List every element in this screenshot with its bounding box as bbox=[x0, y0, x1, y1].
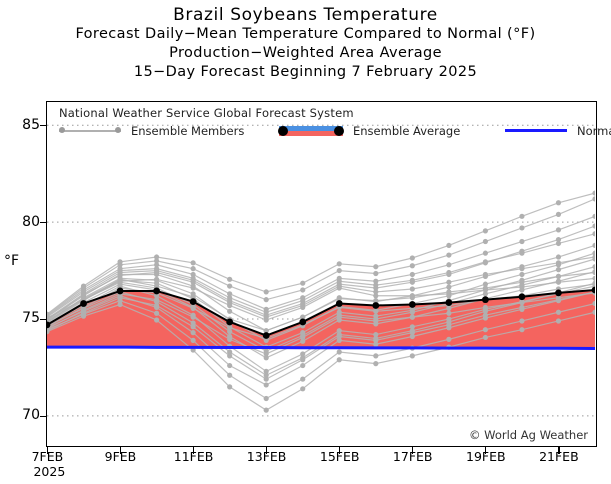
ensemble-member-point bbox=[264, 313, 269, 318]
ensemble-member-point bbox=[337, 313, 342, 318]
ensemble-member-point bbox=[446, 243, 451, 248]
ensemble-average-point bbox=[409, 301, 416, 308]
ensemble-member-point bbox=[191, 330, 196, 335]
ensemble-member-point bbox=[446, 272, 451, 277]
ensemble-average-point bbox=[555, 289, 562, 296]
legend-label-ensemble-members: Ensemble Members bbox=[131, 124, 244, 138]
ensemble-member-point bbox=[373, 321, 378, 326]
ensemble-member-point bbox=[373, 353, 378, 358]
ensemble-member-point bbox=[191, 313, 196, 318]
ensemble-member-point bbox=[264, 307, 269, 312]
ensemble-member-point bbox=[227, 349, 232, 354]
ensemble-member-point bbox=[373, 316, 378, 321]
ensemble-member-point bbox=[519, 225, 524, 230]
ensemble-member-point bbox=[117, 272, 122, 277]
ensemble-member-point bbox=[337, 349, 342, 354]
x-tick-mark bbox=[339, 447, 340, 454]
y-tick-label: 85 bbox=[6, 117, 40, 133]
ensemble-member-point bbox=[337, 261, 342, 266]
ensemble-member-point bbox=[227, 373, 232, 378]
legend-label-ensemble-average: Ensemble Average bbox=[353, 124, 460, 138]
ensemble-member-point bbox=[227, 384, 232, 389]
ensemble-member-point bbox=[373, 264, 378, 269]
ensemble-member-point bbox=[410, 334, 415, 339]
ensemble-member-point bbox=[337, 332, 342, 337]
ensemble-member-point bbox=[556, 212, 561, 217]
ensemble-member-point bbox=[373, 285, 378, 290]
ensemble-average-point bbox=[336, 300, 343, 307]
ensemble-member-point bbox=[519, 214, 524, 219]
normal-line bbox=[47, 347, 595, 348]
x-tick-mark bbox=[47, 447, 48, 454]
ensemble-member-point bbox=[556, 254, 561, 259]
ensemble-member-point bbox=[410, 263, 415, 268]
ensemble-member-point bbox=[446, 311, 451, 316]
ensemble-member-point bbox=[264, 373, 269, 378]
ensemble-average-point bbox=[80, 300, 87, 307]
ensemble-member-point bbox=[300, 339, 305, 344]
ensemble-member-point bbox=[337, 282, 342, 287]
ensemble-member-point bbox=[519, 249, 524, 254]
ensemble-member-point bbox=[410, 328, 415, 333]
ensemble-member-point bbox=[592, 251, 595, 256]
ensemble-member-point bbox=[227, 283, 232, 288]
ensemble-member-point bbox=[592, 231, 595, 236]
plot-inner bbox=[47, 102, 596, 446]
legend-label-normal: Normal bbox=[577, 124, 611, 138]
x-axis-year-label: 2025 bbox=[33, 464, 65, 479]
ensemble-member-point bbox=[483, 274, 488, 279]
ensemble-member-point bbox=[592, 223, 595, 228]
ensemble-member-point bbox=[483, 260, 488, 265]
ensemble-average-point bbox=[372, 302, 379, 309]
ensemble-member-point bbox=[446, 337, 451, 342]
ensemble-member-point bbox=[191, 278, 196, 283]
ensemble-member-point bbox=[446, 262, 451, 267]
title-line-4: 15−Day Forecast Beginning 7 February 202… bbox=[0, 63, 611, 82]
chart-root: Brazil Soybeans Temperature Forecast Dai… bbox=[0, 0, 611, 484]
ensemble-member-point bbox=[264, 382, 269, 387]
ensemble-member-point bbox=[556, 267, 561, 272]
ensemble-member-point bbox=[592, 276, 595, 281]
ensemble-member-point bbox=[337, 276, 342, 281]
ensemble-member-point bbox=[519, 287, 524, 292]
ensemble-member-point bbox=[117, 280, 122, 285]
ensemble-member-point bbox=[300, 377, 305, 382]
ensemble-member-point bbox=[373, 336, 378, 341]
ensemble-average-point bbox=[299, 319, 306, 326]
ensemble-member-point bbox=[556, 279, 561, 284]
ensemble-member-point bbox=[264, 408, 269, 413]
ensemble-member-point bbox=[519, 278, 524, 283]
ensemble-member-point bbox=[519, 264, 524, 269]
x-tick-mark bbox=[412, 447, 413, 454]
ensemble-member-point bbox=[446, 325, 451, 330]
ensemble-member-point bbox=[483, 309, 488, 314]
ensemble-member-point bbox=[556, 318, 561, 323]
ensemble-member-point bbox=[446, 319, 451, 324]
ensemble-average-swatch-icon bbox=[279, 126, 343, 136]
x-tick-mark bbox=[193, 447, 194, 454]
legend: National Weather Service Global Forecast… bbox=[53, 104, 592, 142]
ensemble-member-point bbox=[483, 327, 488, 332]
ensemble-member-point bbox=[264, 348, 269, 353]
plot-area: National Weather Service Global Forecast… bbox=[46, 101, 597, 447]
ensemble-member-point bbox=[556, 237, 561, 242]
ensemble-member-point bbox=[227, 329, 232, 334]
ensemble-member-point bbox=[337, 338, 342, 343]
ensemble-member-point bbox=[227, 298, 232, 303]
ensemble-member-point bbox=[154, 305, 159, 310]
ensemble-member-point bbox=[81, 314, 86, 319]
ensemble-member-point bbox=[117, 302, 122, 307]
ensemble-member-point bbox=[337, 317, 342, 322]
ensemble-member-point bbox=[264, 297, 269, 302]
ensemble-member-point bbox=[446, 284, 451, 289]
y-tick-label: 70 bbox=[6, 407, 40, 423]
y-axis: 70758085 bbox=[0, 0, 40, 484]
ensemble-member-point bbox=[592, 243, 595, 248]
ensemble-member-point bbox=[191, 320, 196, 325]
copyright-notice: © World Ag Weather bbox=[469, 428, 588, 442]
legend-header: National Weather Service Global Forecast… bbox=[59, 106, 354, 120]
ensemble-member-point bbox=[519, 318, 524, 323]
ensemble-member-point bbox=[117, 259, 122, 264]
ensemble-member-point bbox=[227, 363, 232, 368]
ensemble-members-swatch-icon bbox=[59, 130, 121, 132]
legend-item-ensemble-members[interactable]: Ensemble Members bbox=[59, 122, 259, 140]
ensemble-member-point bbox=[483, 239, 488, 244]
y-tick-label: 80 bbox=[6, 214, 40, 230]
ensemble-member-point bbox=[337, 295, 342, 300]
ensemble-member-point bbox=[300, 295, 305, 300]
ensemble-member-point bbox=[410, 280, 415, 285]
ensemble-member-point bbox=[410, 353, 415, 358]
ensemble-average-point bbox=[445, 299, 452, 306]
ensemble-member-point bbox=[264, 396, 269, 401]
ensemble-member-point bbox=[227, 309, 232, 314]
ensemble-member-point bbox=[556, 298, 561, 303]
ensemble-member-point bbox=[191, 291, 196, 296]
ensemble-member-point bbox=[446, 293, 451, 298]
ensemble-average-point bbox=[117, 288, 124, 295]
ensemble-member-point bbox=[446, 306, 451, 311]
ensemble-member-point bbox=[154, 317, 159, 322]
title-line-3: Production−Weighted Area Average bbox=[0, 44, 611, 63]
ensemble-member-point bbox=[556, 274, 561, 279]
ensemble-member-point bbox=[483, 335, 488, 340]
ensemble-member-point bbox=[519, 283, 524, 288]
ensemble-member-point bbox=[410, 272, 415, 277]
ensemble-member-point bbox=[300, 355, 305, 360]
ensemble-member-point bbox=[483, 251, 488, 256]
ensemble-member-point bbox=[227, 277, 232, 282]
title-line-2: Forecast Daily−Mean Temperature Compared… bbox=[0, 25, 611, 44]
ensemble-average-point bbox=[226, 319, 233, 326]
x-axis: 7FEB20259FEB11FEB13FEB15FEB17FEB19FEB21F… bbox=[0, 449, 611, 484]
ensemble-member-point bbox=[300, 301, 305, 306]
ensemble-member-point bbox=[300, 287, 305, 292]
ensemble-average-point bbox=[519, 293, 526, 300]
ensemble-member-point bbox=[592, 196, 595, 201]
ensemble-member-point bbox=[592, 264, 595, 269]
x-tick-mark bbox=[266, 447, 267, 454]
ensemble-member-point bbox=[556, 227, 561, 232]
ensemble-member-point bbox=[154, 281, 159, 286]
ensemble-member-point bbox=[227, 291, 232, 296]
ensemble-member-point bbox=[227, 334, 232, 339]
ensemble-member-point bbox=[483, 228, 488, 233]
ensemble-member-point bbox=[264, 289, 269, 294]
ensemble-member-point bbox=[556, 262, 561, 267]
ensemble-average-point bbox=[153, 288, 160, 295]
ensemble-member-point bbox=[373, 342, 378, 347]
ensemble-member-point bbox=[410, 310, 415, 315]
ensemble-member-point bbox=[191, 260, 196, 265]
ensemble-member-point bbox=[264, 355, 269, 360]
ensemble-member-point bbox=[81, 283, 86, 288]
ensemble-member-point bbox=[154, 254, 159, 259]
ensemble-member-point bbox=[519, 272, 524, 277]
ensemble-member-point bbox=[446, 252, 451, 257]
chart-title-block: Brazil Soybeans Temperature Forecast Dai… bbox=[0, 0, 611, 82]
ensemble-member-point bbox=[191, 272, 196, 277]
ensemble-member-point bbox=[410, 286, 415, 291]
ensemble-member-point bbox=[410, 315, 415, 320]
ensemble-member-point bbox=[300, 363, 305, 368]
ensemble-member-point bbox=[410, 293, 415, 298]
ensemble-member-point bbox=[483, 291, 488, 296]
ensemble-member-point bbox=[373, 279, 378, 284]
ensemble-member-point bbox=[373, 361, 378, 366]
ensemble-member-point bbox=[337, 268, 342, 273]
ensemble-member-point bbox=[556, 200, 561, 205]
ensemble-member-point bbox=[191, 266, 196, 271]
ensemble-member-point bbox=[191, 283, 196, 288]
ensemble-member-point bbox=[592, 190, 595, 195]
y-axis-label: °F bbox=[4, 253, 19, 269]
ensemble-member-point bbox=[519, 239, 524, 244]
ensemble-member-point bbox=[191, 338, 196, 343]
ensemble-member-point bbox=[154, 299, 159, 304]
ensemble-member-point bbox=[300, 281, 305, 286]
ensemble-member-point bbox=[446, 280, 451, 285]
normal-swatch-icon bbox=[505, 129, 567, 133]
legend-row: Ensemble Members Ensemble Average Normal bbox=[53, 122, 592, 140]
ensemble-member-point bbox=[592, 214, 595, 219]
y-tick-label: 75 bbox=[6, 310, 40, 326]
ensemble-member-point bbox=[519, 307, 524, 312]
chart-svg bbox=[47, 102, 595, 445]
ensemble-member-point bbox=[300, 386, 305, 391]
legend-item-normal[interactable]: Normal bbox=[505, 122, 611, 140]
ensemble-member-point bbox=[300, 333, 305, 338]
legend-item-ensemble-average[interactable]: Ensemble Average bbox=[279, 122, 489, 140]
ensemble-average-point bbox=[263, 332, 270, 339]
ensemble-member-point bbox=[519, 327, 524, 332]
ensemble-member-point bbox=[154, 272, 159, 277]
page-title: Brazil Soybeans Temperature bbox=[0, 5, 611, 25]
ensemble-member-point bbox=[483, 315, 488, 320]
ensemble-average-point bbox=[482, 296, 489, 303]
x-tick-mark bbox=[485, 447, 486, 454]
ensemble-member-point bbox=[373, 271, 378, 276]
x-tick-mark bbox=[120, 447, 121, 454]
ensemble-member-point bbox=[483, 282, 488, 287]
ensemble-average-point bbox=[190, 298, 197, 305]
x-tick-mark bbox=[558, 447, 559, 454]
ensemble-member-point bbox=[410, 255, 415, 260]
ensemble-member-point bbox=[337, 357, 342, 362]
ensemble-member-point bbox=[154, 311, 159, 316]
ensemble-member-point bbox=[519, 300, 524, 305]
ensemble-member-point bbox=[556, 310, 561, 315]
